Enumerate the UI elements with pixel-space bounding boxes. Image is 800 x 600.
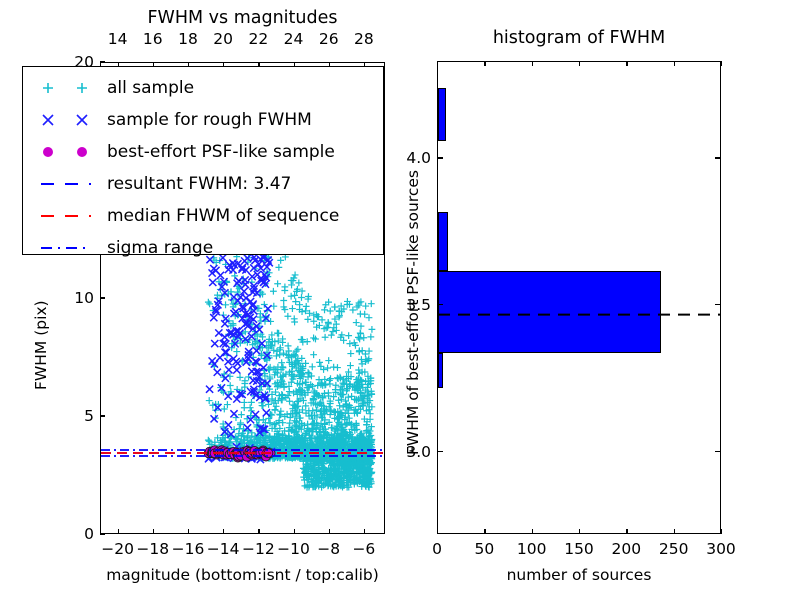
x-tick-label-bottom: −20 (101, 540, 134, 558)
right-panel-y-axis-label: FWHM of best-effort PSF-like sources (404, 170, 422, 455)
x-tick-label-hist: 50 (474, 540, 494, 558)
y-tick-mark-hist (437, 304, 443, 305)
legend-item: all sample (29, 72, 377, 104)
figure-canvas: FWHM vs magnitudes 1416182022242628 −20−… (0, 0, 800, 600)
y-tick-label-left: 10 (68, 289, 94, 307)
x-tick-mark-hist (626, 529, 627, 534)
x-tick-label-top: 16 (143, 30, 163, 48)
x-tick-label-top: 24 (284, 30, 304, 48)
x-tick-mark-hist (579, 529, 580, 534)
circle-marker (29, 136, 103, 168)
x-tick-label-bottom: −12 (242, 540, 275, 558)
legend: all samplesample for rough FWHMbest-effo… (22, 66, 384, 255)
plus-marker (29, 72, 103, 104)
x-tick-mark-hist (484, 529, 485, 534)
histogram-plot-area (438, 62, 720, 533)
x-tick-label-bottom: −10 (277, 540, 310, 558)
y-tick-mark-hist (437, 451, 443, 452)
x-tick-mark-hist-top (484, 61, 485, 66)
legend-item-label: sigma range (103, 238, 213, 258)
legend-item-label: resultant FWHM: 3.47 (103, 174, 291, 194)
right-panel-axes (437, 61, 721, 534)
x-tick-label-hist: 300 (706, 540, 736, 558)
x-tick-label-bottom: −8 (317, 540, 340, 558)
right-panel-x-axis-label: number of sources (437, 566, 721, 584)
x-tick-label-top: 28 (354, 30, 374, 48)
y-tick-mark-left (100, 415, 105, 416)
x-tick-label-hist: 150 (564, 540, 594, 558)
x-tick-label-hist: 200 (612, 540, 642, 558)
cross-marker (29, 104, 103, 136)
y-tick-mark-hist-right (715, 451, 721, 452)
x-tick-mark-hist-top (579, 61, 580, 66)
legend-item: sample for rough FWHM (29, 104, 377, 136)
dashed-line (29, 200, 103, 232)
x-tick-mark-hist-top (626, 61, 627, 66)
x-tick-mark-bottom (258, 529, 259, 534)
dashed-line (29, 168, 103, 200)
dashdot-line (29, 232, 103, 264)
y-tick-mark-left (100, 297, 105, 298)
x-tick-label-bottom: −16 (172, 540, 205, 558)
y-tick-label-hist: 4.0 (392, 149, 431, 167)
x-tick-label-top: 14 (108, 30, 128, 48)
x-tick-label-top: 18 (178, 30, 198, 48)
x-tick-mark-bottom (118, 529, 119, 534)
left-panel-x-axis-label: magnitude (bottom:isnt / top:calib) (100, 566, 385, 584)
x-tick-mark-bottom (294, 529, 295, 534)
right-panel-title: histogram of FWHM (437, 28, 721, 48)
x-tick-mark-bottom (223, 529, 224, 534)
y-tick-mark-hist (437, 157, 443, 158)
legend-item: sigma range (29, 232, 377, 264)
x-tick-mark-bottom (153, 529, 154, 534)
legend-item-label: best-effort PSF-like sample (103, 142, 335, 162)
x-tick-mark-hist (532, 529, 533, 534)
x-tick-mark-hist (437, 529, 438, 534)
x-tick-label-top: 20 (213, 30, 233, 48)
y-tick-label-left: 0 (68, 525, 94, 543)
x-tick-label-top: 22 (248, 30, 268, 48)
x-tick-label-top: 26 (319, 30, 339, 48)
x-tick-mark-hist-top (721, 61, 722, 66)
legend-item: best-effort PSF-like sample (29, 136, 377, 168)
y-tick-mark-left (100, 533, 105, 534)
left-panel-title: FWHM vs magnitudes (100, 8, 385, 28)
x-tick-mark-hist-top (437, 61, 438, 66)
legend-item-label: sample for rough FWHM (103, 110, 312, 130)
x-tick-mark-bottom (364, 529, 365, 534)
legend-item: median FHWM of sequence (29, 200, 377, 232)
x-tick-label-hist: 100 (517, 540, 547, 558)
x-tick-label-hist: 250 (659, 540, 689, 558)
y-tick-mark-hist-right (715, 157, 721, 158)
x-tick-label-bottom: −14 (207, 540, 240, 558)
legend-item-label: median FHWM of sequence (103, 206, 339, 226)
y-tick-mark-hist-right (715, 304, 721, 305)
y-tick-label-left: 5 (68, 407, 94, 425)
x-tick-label-bottom: −6 (352, 540, 375, 558)
x-tick-mark-hist-top (532, 61, 533, 66)
x-tick-label-hist: 0 (432, 540, 442, 558)
left-panel-y-axis-label: FWHM (pix) (32, 300, 50, 390)
x-tick-mark-bottom (329, 529, 330, 534)
x-tick-mark-hist (674, 529, 675, 534)
x-tick-mark-bottom (188, 529, 189, 534)
legend-item: resultant FWHM: 3.47 (29, 168, 377, 200)
y-tick-mark-left (100, 61, 105, 62)
x-tick-label-bottom: −18 (136, 540, 169, 558)
legend-item-label: all sample (103, 78, 194, 98)
x-tick-mark-hist (721, 529, 722, 534)
histogram-median-line (438, 62, 720, 533)
x-tick-mark-hist-top (674, 61, 675, 66)
